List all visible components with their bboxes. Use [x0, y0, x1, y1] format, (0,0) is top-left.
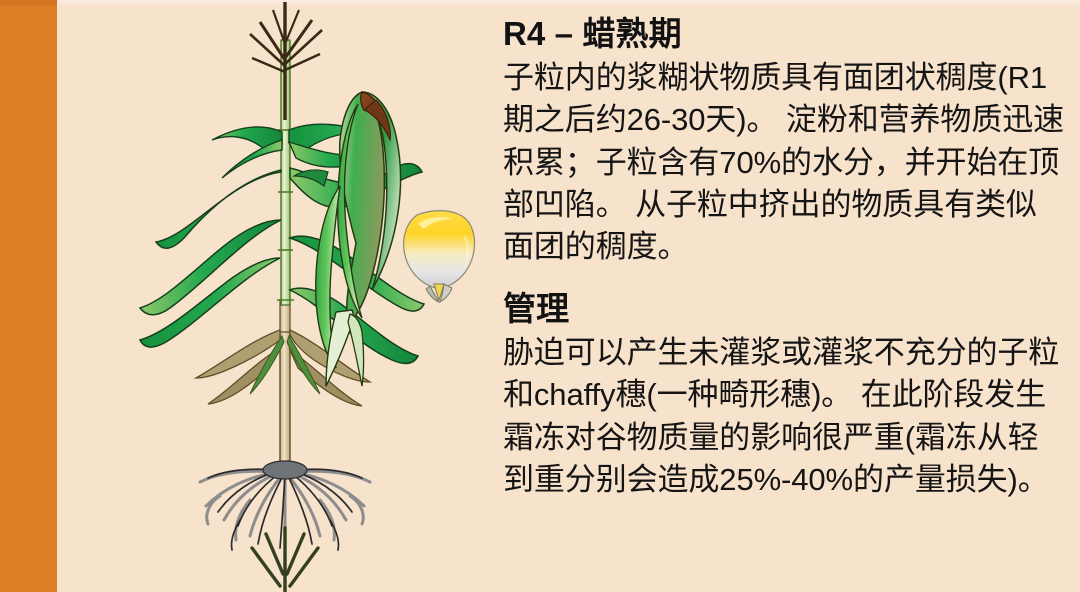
corn-stalk: [280, 300, 290, 470]
section-spacer: [503, 268, 1065, 285]
down-arrow-icon: [252, 528, 318, 592]
tassel-icon: [250, 2, 322, 120]
corn-kernel: [404, 211, 475, 302]
slide: R4 – 蜡熟期 子粒内的浆糊状物质具有面团状稠度(R1期之后约26-30天)。…: [0, 0, 1080, 592]
root-crown: [263, 461, 307, 479]
management-description: 胁迫可以产生未灌浆或灌浆不充分的子粒和chaffy穗(一种畸形穗)。 在此阶段发…: [503, 332, 1065, 501]
stage-heading: R4 – 蜡熟期: [503, 8, 1065, 54]
corn-plant-illustration: [100, 0, 490, 592]
management-heading: 管理: [503, 285, 1065, 329]
text-content-column: R4 – 蜡熟期 子粒内的浆糊状物质具有面团状稠度(R1期之后约26-30天)。…: [503, 8, 1065, 588]
stage-description: 子粒内的浆糊状物质具有面团状稠度(R1期之后约26-30天)。 淀粉和营养物质迅…: [503, 57, 1065, 268]
left-accent-bar: [0, 0, 57, 592]
